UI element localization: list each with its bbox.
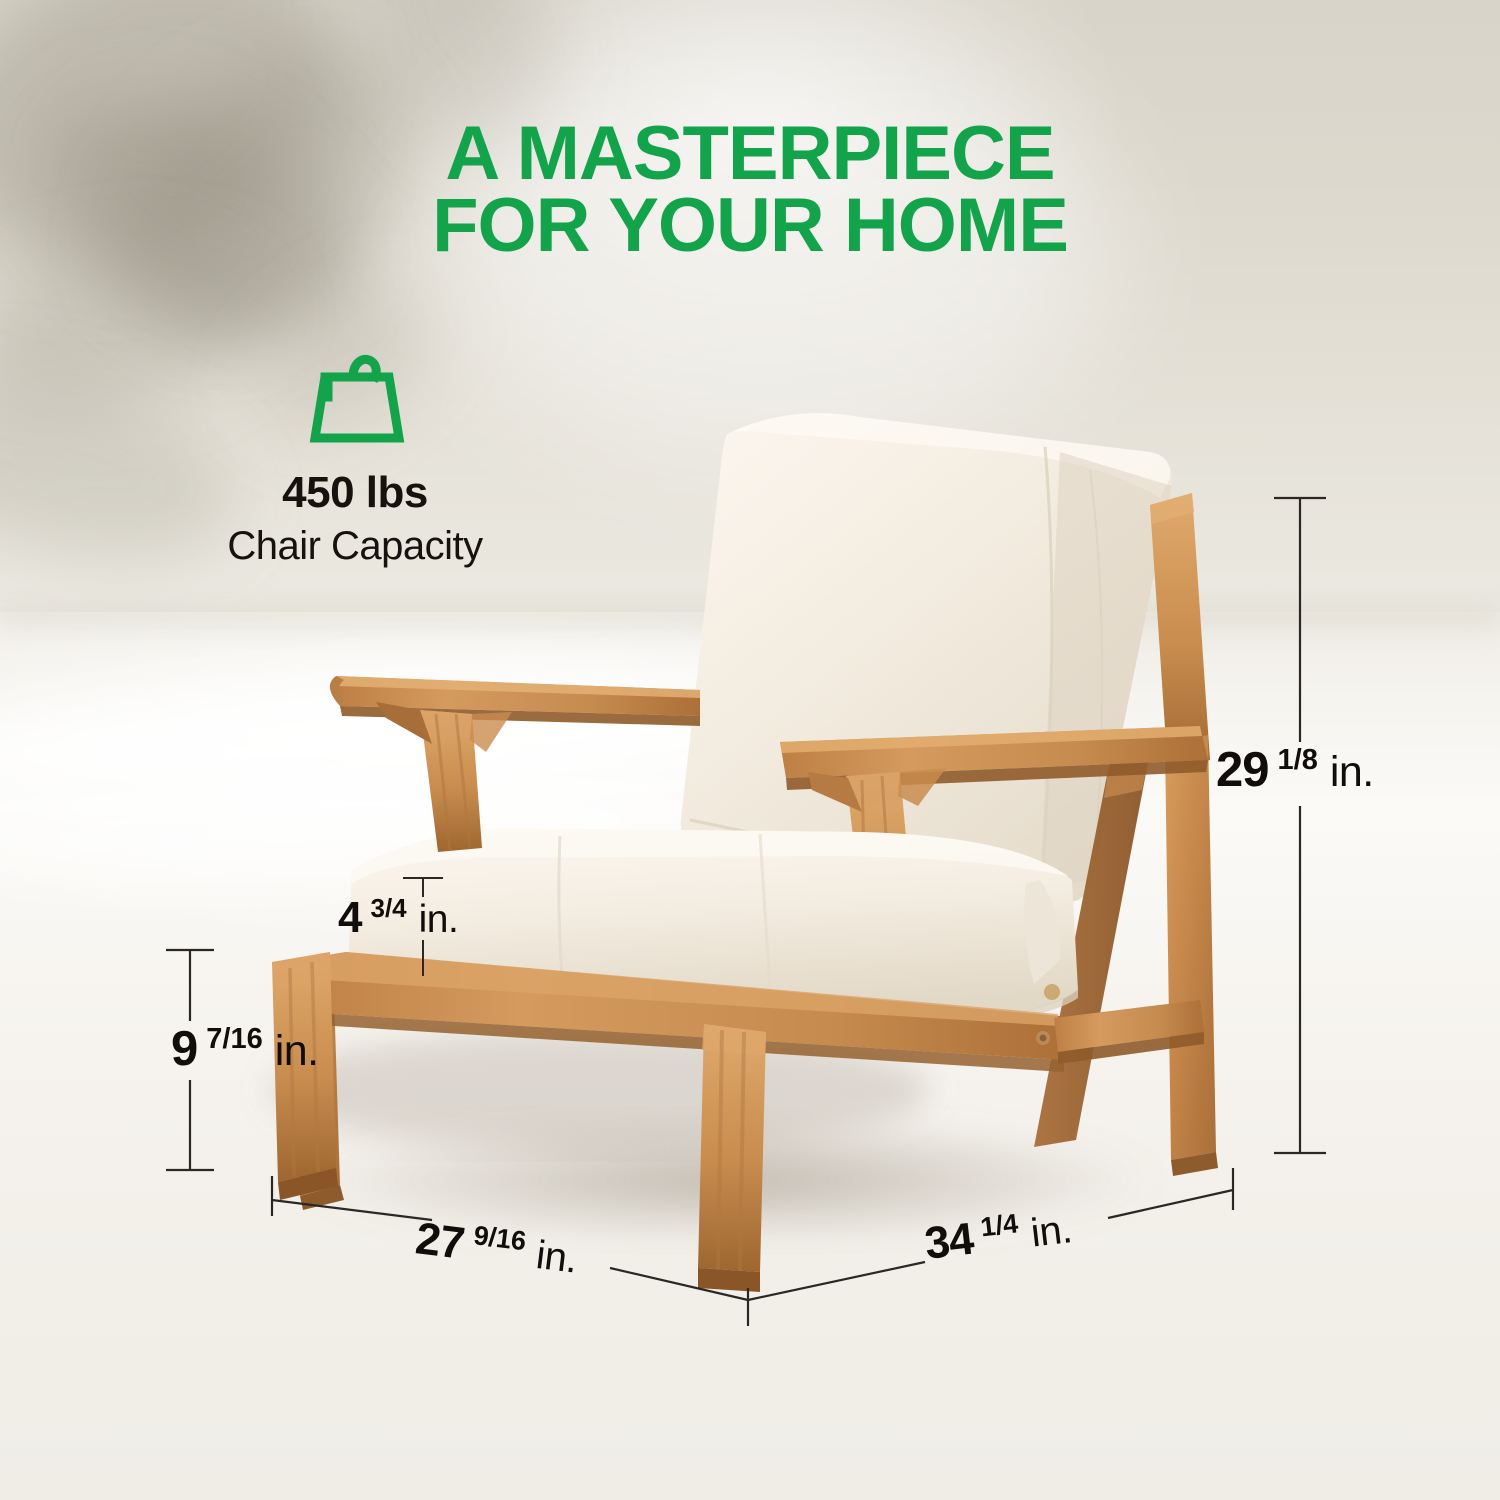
dimension-cushion-thickness: 4 3/4 in. bbox=[338, 893, 458, 943]
dimension-seat-height: 9 7/16 in. bbox=[171, 1021, 319, 1077]
dimension-fraction: 3/4 bbox=[370, 893, 406, 924]
headline-line-2: FOR YOUR HOME bbox=[0, 190, 1500, 262]
dimension-whole: 9 bbox=[171, 1021, 197, 1077]
dimension-fraction: 7/16 bbox=[206, 1023, 262, 1056]
dimension-fraction: 9/16 bbox=[472, 1220, 528, 1257]
chair-capacity-block: 450 lbs Chair Capacity bbox=[175, 352, 535, 569]
dimension-overall-height: 29 1/8 in. bbox=[1216, 742, 1374, 798]
dimension-unit: in. bbox=[419, 898, 459, 942]
capacity-value: 450 lbs bbox=[175, 468, 535, 518]
dimension-whole: 27 bbox=[413, 1212, 467, 1269]
dimension-fraction: 1/4 bbox=[979, 1208, 1020, 1243]
dimension-whole: 29 bbox=[1216, 742, 1269, 798]
dimension-whole: 34 bbox=[922, 1213, 976, 1270]
capacity-label: Chair Capacity bbox=[175, 524, 535, 569]
headline-line-1: A MASTERPIECE bbox=[0, 118, 1500, 190]
dimension-unit: in. bbox=[1330, 748, 1374, 797]
dimension-fraction: 1/8 bbox=[1278, 744, 1318, 777]
wall-floor-seam bbox=[0, 608, 1500, 634]
page-title: A MASTERPIECE FOR YOUR HOME bbox=[0, 118, 1500, 262]
dimension-unit: in. bbox=[534, 1233, 580, 1283]
dimension-unit: in. bbox=[275, 1027, 319, 1076]
dimension-whole: 4 bbox=[338, 893, 361, 943]
weight-bag-icon bbox=[175, 352, 535, 448]
product-infographic: A MASTERPIECE FOR YOUR HOME 450 lbs Chai… bbox=[0, 0, 1500, 1500]
dimension-unit: in. bbox=[1029, 1207, 1075, 1256]
